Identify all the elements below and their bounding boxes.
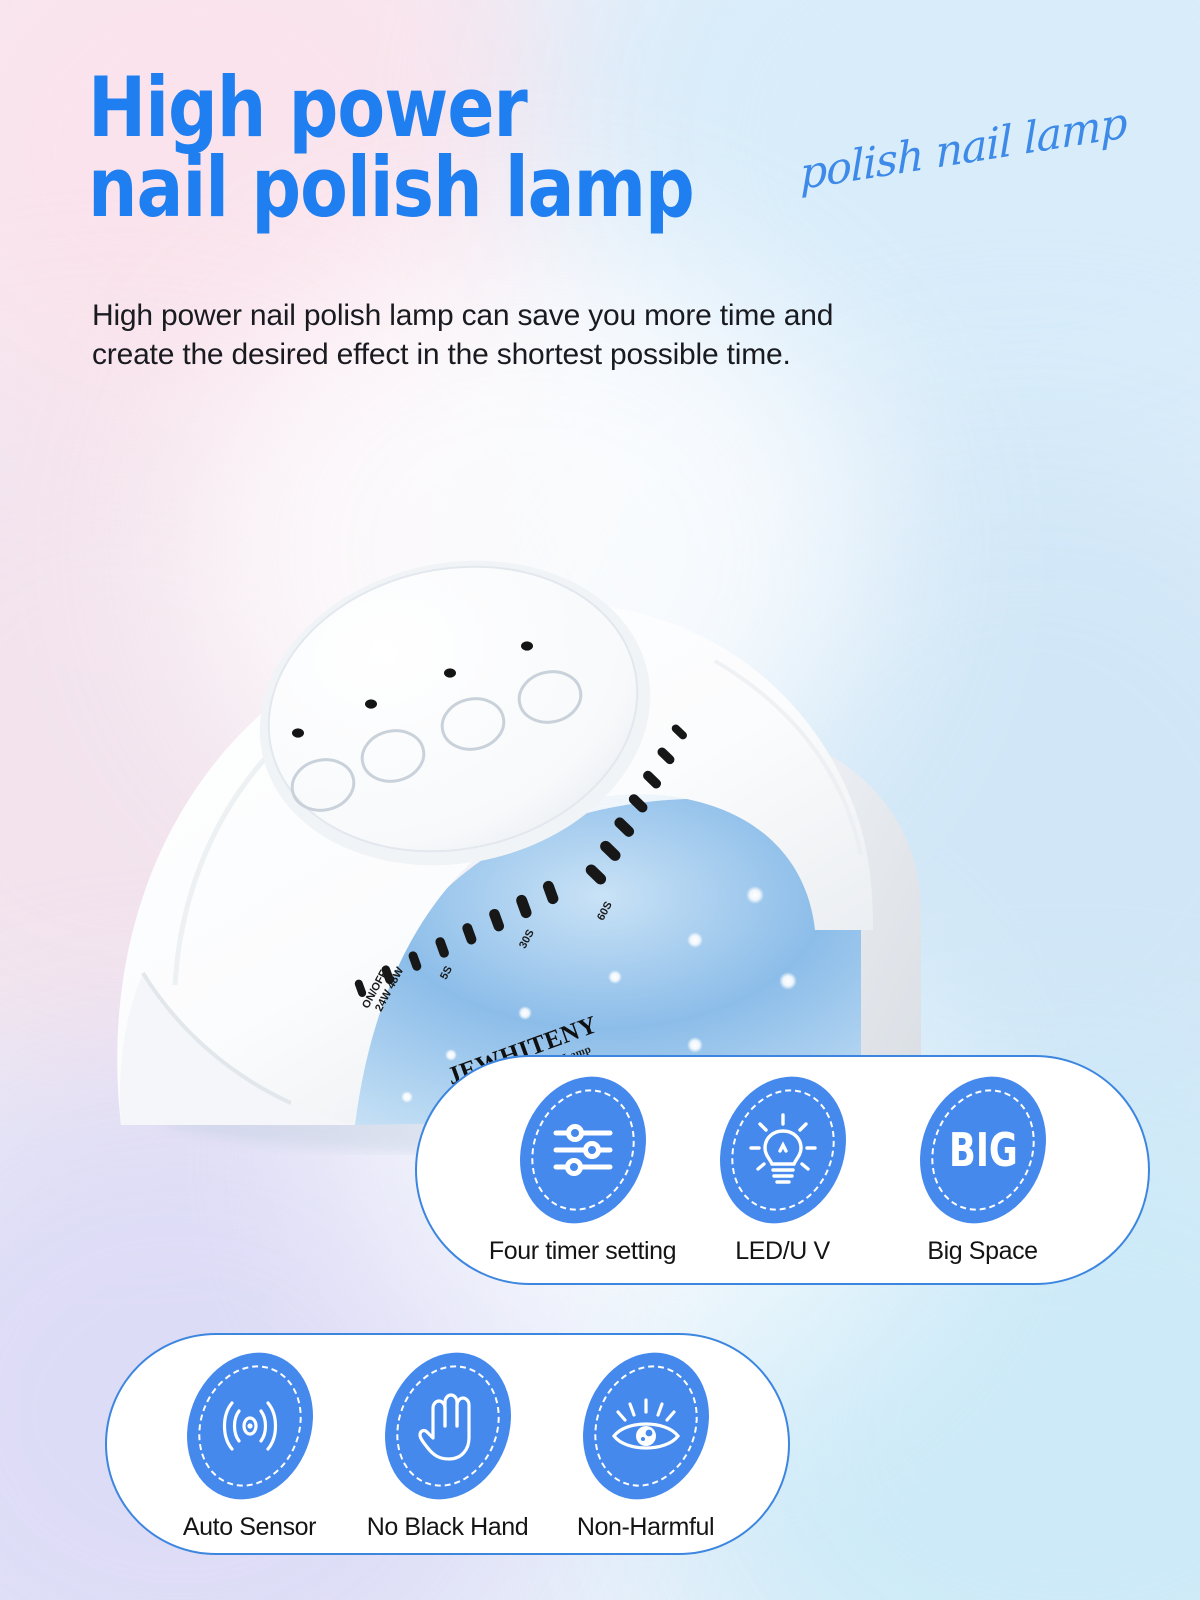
feature-card-top: Four timer setting [415,1055,1150,1285]
feature-label: No Black Hand [367,1513,529,1542]
feature-label: Big Space [927,1237,1037,1266]
product-image-nail-lamp: ON/OFF 24W 48W 5S 30S 60S JEWHITENY Supe… [55,425,955,1155]
lightbulb-icon [699,1058,867,1242]
feature-card-bottom: Auto Sensor No Black Hand [105,1333,790,1555]
feature-led-uv[interactable]: LED/U V [683,1057,883,1266]
feature-label: LED/U V [735,1237,829,1266]
sliders-icon [499,1058,667,1242]
feature-four-timer-setting[interactable]: Four timer setting [483,1057,683,1266]
feature-label: Auto Sensor [183,1513,316,1542]
big-text-glyph: BIG [948,1123,1017,1177]
feature-label: Four timer setting [489,1237,676,1266]
feature-non-harmful[interactable]: Non-Harmful [547,1335,745,1542]
feature-auto-sensor[interactable]: Auto Sensor [151,1335,349,1542]
page-title: High power nail polish lamp [88,68,795,227]
feature-no-black-hand[interactable]: No Black Hand [349,1335,547,1542]
signal-waves-icon [166,1334,334,1518]
subtitle-paragraph: High power nail polish lamp can save you… [92,296,922,374]
eye-icon [562,1334,730,1518]
feature-big-space[interactable]: BIG Big Space [883,1057,1083,1266]
big-text-icon: BIG [899,1058,1067,1242]
feature-label: Non-Harmful [577,1513,714,1542]
poster-root: High power nail polish lamp polish nail … [0,0,1200,1600]
hand-icon [364,1334,532,1518]
